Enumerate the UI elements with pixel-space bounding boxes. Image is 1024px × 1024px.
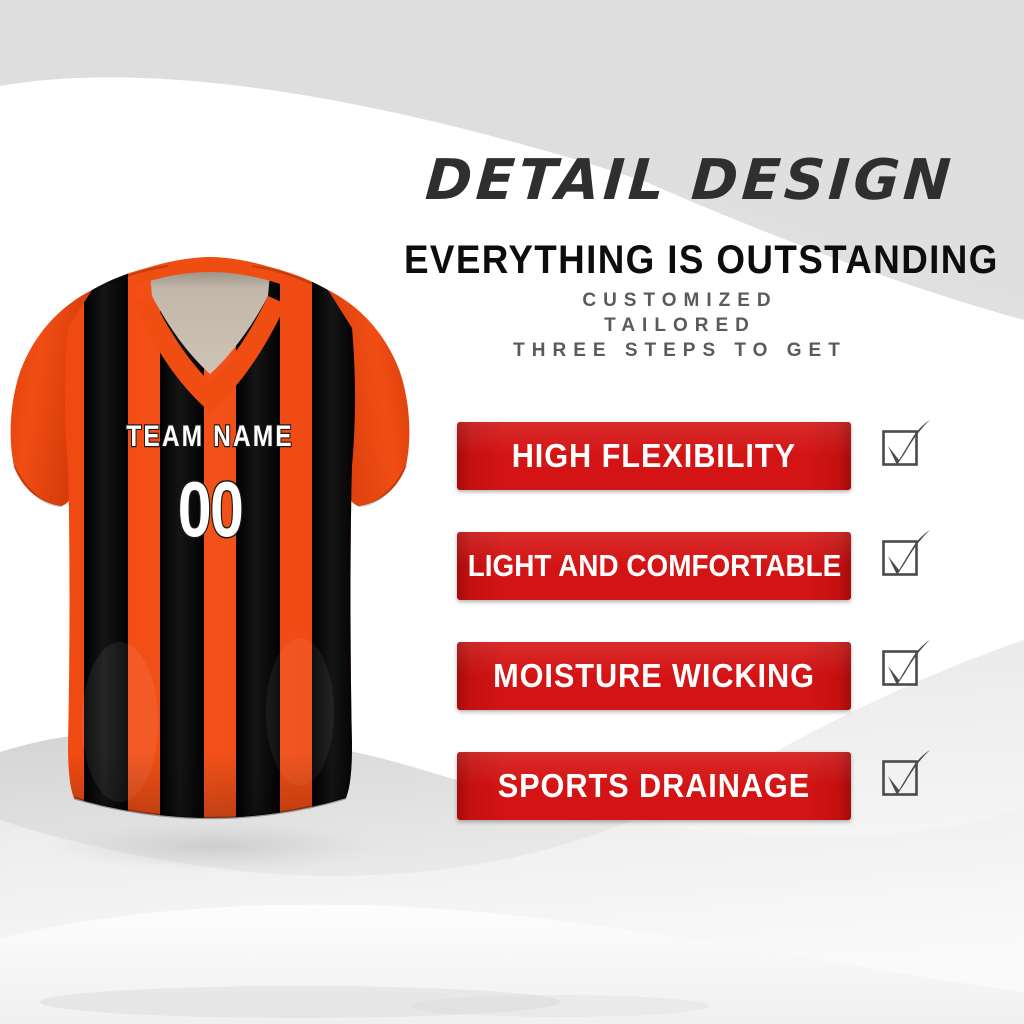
tagline-group: CUSTOMIZED TAILORED THREE STEPS TO GET [380, 288, 980, 363]
jersey-illustration [0, 252, 420, 832]
page-subtitle: EVERYTHING IS OUTSTANDING [404, 238, 956, 283]
feature-list: HIGH FLEXIBILITY LIGHT AND COMFORTABLE [457, 422, 997, 820]
feature-banner-sports-drainage[interactable]: SPORTS DRAINAGE [457, 752, 851, 820]
product-detail-banner: TEAM NAME 00 DETAIL DESIGN EVERYTHING IS… [0, 0, 1024, 1024]
feature-label: SPORTS DRAINAGE [498, 767, 810, 805]
tagline-2: TAILORED [380, 313, 980, 338]
page-title: DETAIL DESIGN [378, 148, 1003, 213]
check-box-icon-svg [875, 748, 933, 806]
feature-row: LIGHT AND COMFORTABLE [457, 532, 997, 600]
feature-label: HIGH FLEXIBILITY [512, 437, 796, 475]
feature-row: SPORTS DRAINAGE [457, 752, 997, 820]
check-box-icon-svg [875, 638, 933, 696]
feature-banner-light-and-comfortable[interactable]: LIGHT AND COMFORTABLE [457, 532, 851, 600]
feature-banner-moisture-wicking[interactable]: MOISTURE WICKING [457, 642, 851, 710]
feature-label: LIGHT AND COMFORTABLE [467, 548, 841, 584]
product-image-jersey: TEAM NAME 00 [0, 252, 420, 832]
feature-label: MOISTURE WICKING [493, 657, 815, 695]
check-box-icon-svg [875, 418, 933, 476]
tagline-3: THREE STEPS TO GET [380, 338, 980, 363]
check-box-icon [875, 638, 933, 696]
feature-banner-high-flexibility[interactable]: HIGH FLEXIBILITY [457, 422, 851, 490]
check-box-icon [875, 748, 933, 806]
feature-row: HIGH FLEXIBILITY [457, 422, 997, 490]
feature-row: MOISTURE WICKING [457, 642, 997, 710]
tagline-1: CUSTOMIZED [380, 288, 980, 313]
check-box-icon [875, 528, 933, 586]
check-box-icon-svg [875, 528, 933, 586]
check-box-icon [875, 418, 933, 476]
content-column: DETAIL DESIGN EVERYTHING IS OUTSTANDING … [380, 0, 1024, 1024]
